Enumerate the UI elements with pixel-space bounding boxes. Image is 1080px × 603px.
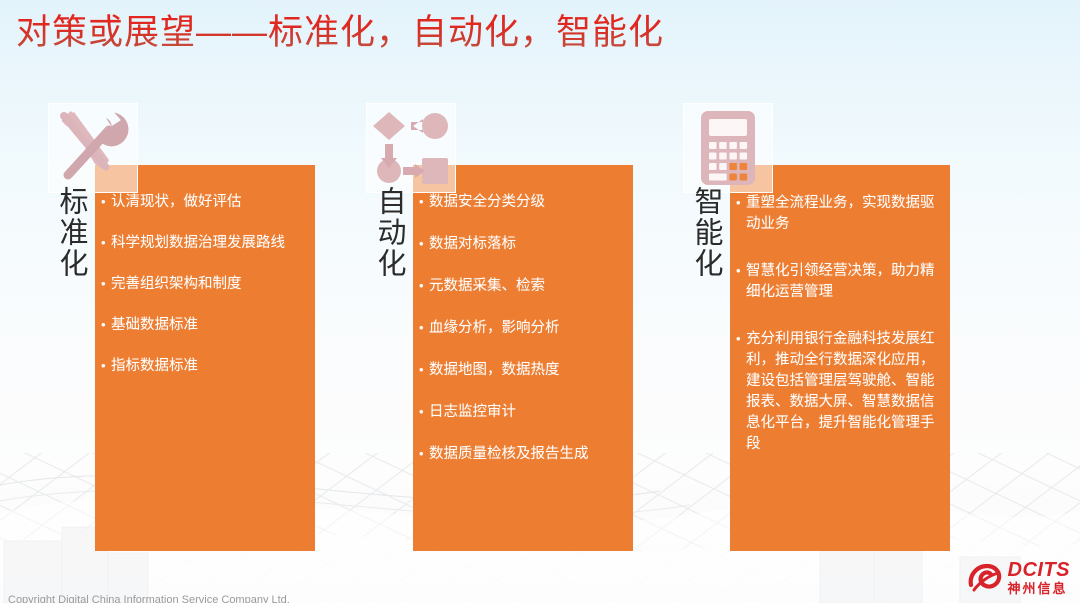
tools-wrench-screwdriver-icon	[48, 103, 138, 193]
list-item: 数据安全分类分级	[419, 193, 623, 212]
bullet-list-standardization: 认清现状，做好评估 科学规划数据治理发展路线 完善组织架构和制度 基础数据标准 …	[101, 193, 305, 376]
list-item: 重塑全流程业务，实现数据驱动业务	[736, 193, 940, 235]
column-label-automation: 自动化	[368, 186, 408, 279]
list-item: 日志监控审计	[419, 403, 623, 422]
panel-intelligence: 重塑全流程业务，实现数据驱动业务 智慧化引领经营决策，助力精细化运营管理 充分利…	[730, 165, 950, 551]
calculator-icon	[683, 103, 773, 193]
flowchart-diagram-icon	[366, 103, 456, 193]
list-item: 数据对标落标	[419, 235, 623, 254]
list-item: 完善组织架构和制度	[101, 275, 305, 294]
footer: Copyright Digital China Information Serv…	[0, 581, 1080, 603]
list-item: 基础数据标准	[101, 316, 305, 335]
list-item: 科学规划数据治理发展路线	[101, 234, 305, 253]
column-label-intelligence: 智能化	[685, 186, 725, 279]
bullet-list-automation: 数据安全分类分级 数据对标落标 元数据采集、检索 血缘分析，影响分析 数据地图，…	[419, 193, 623, 464]
list-item: 智慧化引领经营决策，助力精细化运营管理	[736, 261, 940, 303]
dcits-logo-mark	[968, 563, 1002, 593]
dcits-logo: DCITS 神州信息	[968, 560, 1071, 595]
list-item: 数据质量检核及报告生成	[419, 445, 623, 464]
slide-canvas: 对策或展望——标准化，自动化，智能化	[0, 0, 1080, 603]
list-item: 数据地图，数据热度	[419, 361, 623, 380]
panel-automation: 数据安全分类分级 数据对标落标 元数据采集、检索 血缘分析，影响分析 数据地图，…	[413, 165, 633, 551]
list-item: 血缘分析，影响分析	[419, 319, 623, 338]
bullet-list-intelligence: 重塑全流程业务，实现数据驱动业务 智慧化引领经营决策，助力精细化运营管理 充分利…	[736, 193, 940, 455]
list-item: 指标数据标准	[101, 357, 305, 376]
copyright-text: Copyright Digital China Information Serv…	[8, 594, 290, 603]
logo-en-text: DCITS	[1008, 560, 1071, 580]
logo-text-block: DCITS 神州信息	[1008, 560, 1071, 595]
column-label-standardization: 标准化	[50, 186, 90, 279]
column-intelligence: 智能化 重塑全流程业务，实现数据驱动业务 智慧化引领经营决策，助力精细化运营管理…	[665, 0, 985, 603]
panel-standardization: 认清现状，做好评估 科学规划数据治理发展路线 完善组织架构和制度 基础数据标准 …	[95, 165, 315, 551]
list-item: 认清现状，做好评估	[101, 193, 305, 212]
list-item: 充分利用银行金融科技发展红利，推动全行数据深化应用，建设包括管理层驾驶舱、智能报…	[736, 329, 940, 455]
column-automation: 自动化 数据安全分类分级 数据对标落标 元数据采集、检索 血缘分析，影响分析 数…	[348, 0, 668, 603]
column-standardization: 标准化 认清现状，做好评估 科学规划数据治理发展路线 完善组织架构和制度 基础数…	[30, 0, 350, 603]
list-item: 元数据采集、检索	[419, 277, 623, 296]
logo-cn-text: 神州信息	[1008, 582, 1071, 595]
